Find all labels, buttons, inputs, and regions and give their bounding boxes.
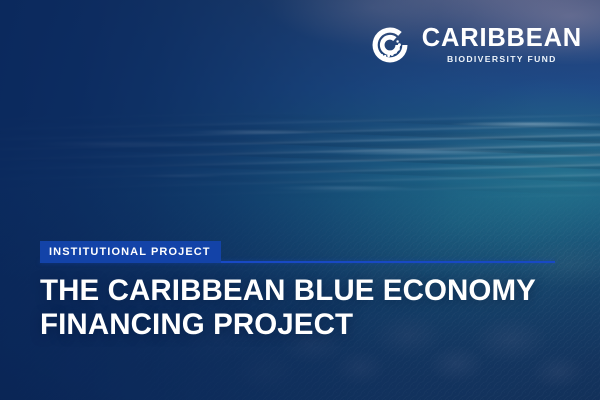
hero-banner: CARIBBEAN BIODIVERSITY FUND INSTITUTIONA… xyxy=(0,0,600,400)
caribbean-spiral-wave-icon xyxy=(367,22,413,68)
logo-wordmark: CARIBBEAN BIODIVERSITY FUND xyxy=(422,26,582,64)
logo-tagline: BIODIVERSITY FUND xyxy=(422,55,582,64)
eyebrow-row: INSTITUTIONAL PROJECT xyxy=(40,241,570,263)
caribbean-biodiversity-fund-logo[interactable]: CARIBBEAN BIODIVERSITY FUND xyxy=(367,22,582,68)
hero-content: INSTITUTIONAL PROJECT THE CARIBBEAN BLUE… xyxy=(40,241,570,342)
logo-name: CARIBBEAN xyxy=(422,26,582,52)
category-badge: INSTITUTIONAL PROJECT xyxy=(40,241,221,263)
page-title: THE CARIBBEAN BLUE ECONOMY FINANCING PRO… xyxy=(40,274,570,342)
